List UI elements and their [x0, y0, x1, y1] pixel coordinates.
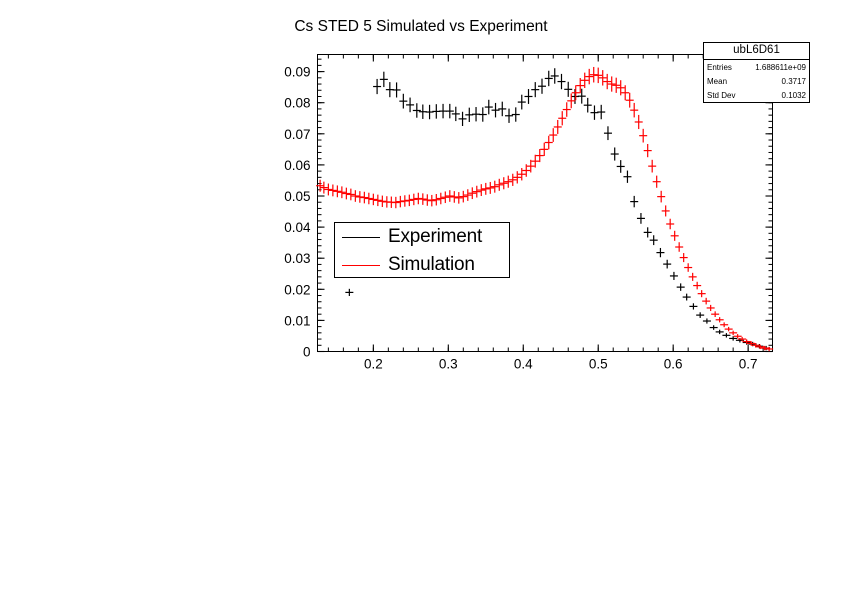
- stats-value-entries: 1.688611e+09: [755, 62, 806, 73]
- legend-box[interactable]: Experiment Simulation: [334, 222, 510, 278]
- statistics-box[interactable]: ubL6D61 Entries 1.688611e+09 Mean 0.3717…: [703, 42, 810, 103]
- svg-text:0.6: 0.6: [664, 357, 683, 372]
- series-simulation: [316, 67, 773, 351]
- svg-text:0.09: 0.09: [284, 65, 310, 80]
- svg-text:0.04: 0.04: [284, 220, 311, 235]
- svg-text:0.05: 0.05: [284, 189, 310, 204]
- svg-text:0.06: 0.06: [284, 158, 310, 173]
- stats-value-stddev: 0.1032: [782, 90, 806, 101]
- stats-row-mean: Mean 0.3717: [704, 74, 809, 88]
- svg-text:0.07: 0.07: [284, 127, 310, 142]
- stats-value-mean: 0.3717: [782, 76, 806, 87]
- legend-line-simulation: [342, 265, 380, 266]
- svg-text:0.08: 0.08: [284, 96, 310, 111]
- svg-text:0.03: 0.03: [284, 251, 310, 266]
- svg-text:0: 0: [303, 345, 311, 360]
- stats-title: ubL6D61: [704, 43, 809, 60]
- svg-text:0.5: 0.5: [589, 357, 608, 372]
- svg-text:0.4: 0.4: [514, 357, 533, 372]
- legend-label-experiment: Experiment: [388, 226, 482, 248]
- legend-item-simulation[interactable]: Simulation: [335, 251, 509, 279]
- svg-text:0.7: 0.7: [739, 357, 758, 372]
- legend-item-experiment[interactable]: Experiment: [335, 223, 509, 251]
- stats-label-entries: Entries: [707, 62, 732, 73]
- stats-row-stddev: Std Dev 0.1032: [704, 88, 809, 102]
- svg-text:0.01: 0.01: [284, 313, 310, 328]
- stats-label-stddev: Std Dev: [707, 90, 735, 101]
- legend-line-experiment: [342, 237, 380, 238]
- legend-label-simulation: Simulation: [388, 254, 475, 276]
- data-series: [316, 67, 773, 351]
- series-experiment: [345, 68, 770, 350]
- svg-text:0.3: 0.3: [439, 357, 458, 372]
- stats-row-entries: Entries 1.688611e+09: [704, 60, 809, 74]
- stats-label-mean: Mean: [707, 76, 727, 87]
- svg-text:0.2: 0.2: [364, 357, 383, 372]
- svg-text:0.02: 0.02: [284, 282, 310, 297]
